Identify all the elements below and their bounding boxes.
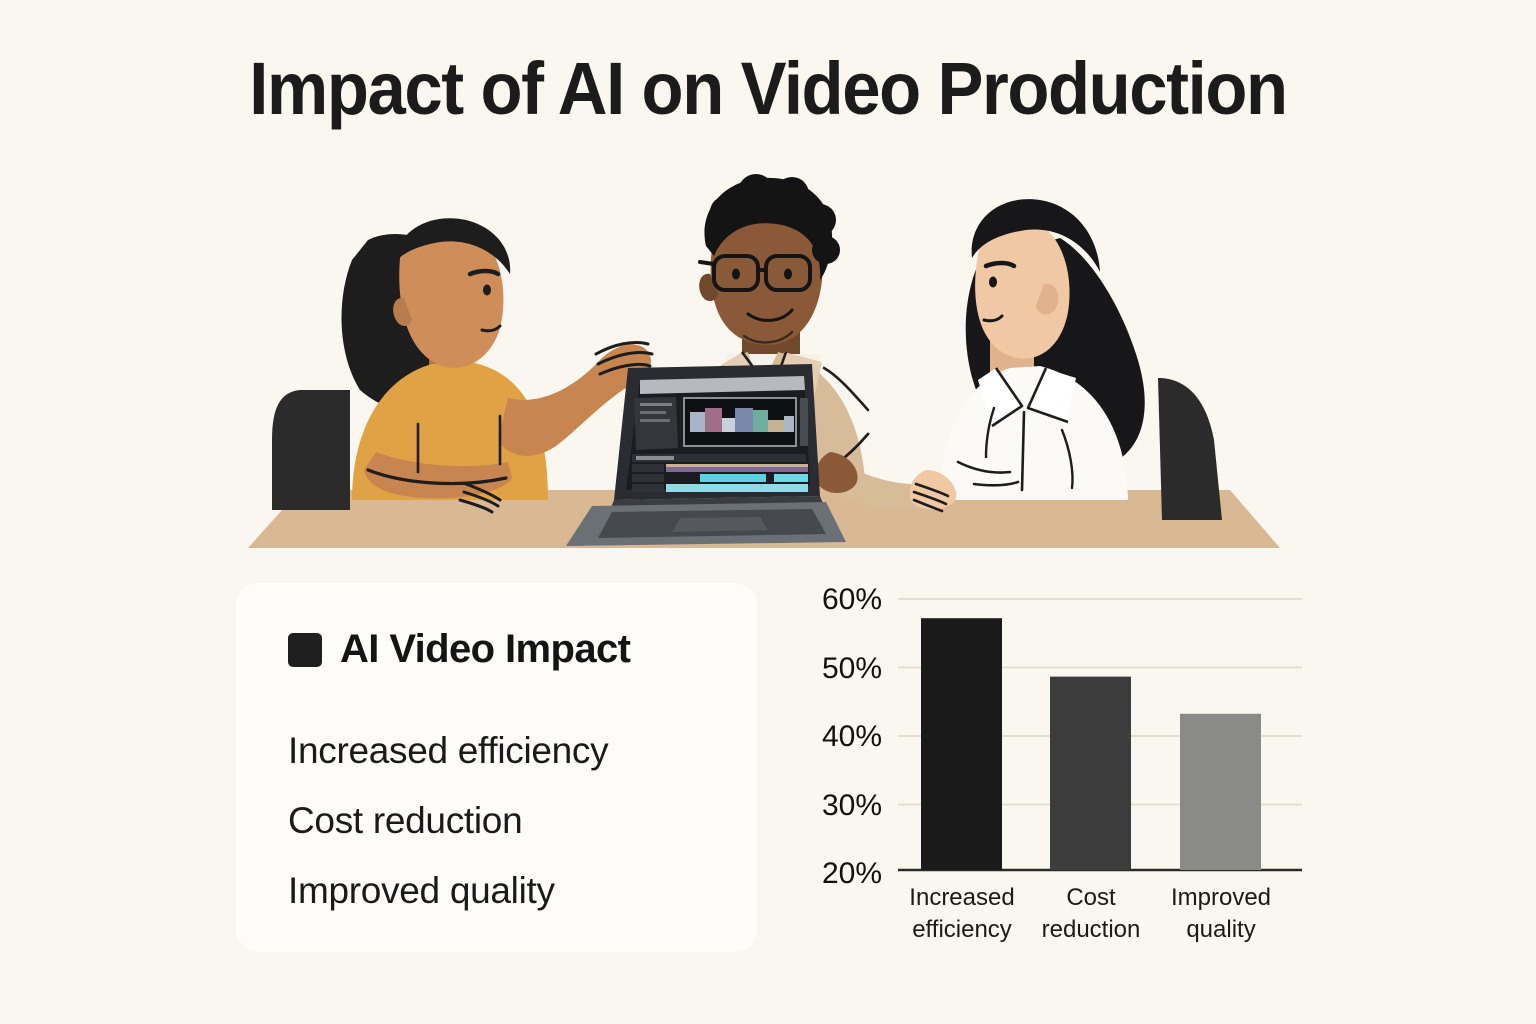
list-item: Increased efficiency xyxy=(288,716,705,786)
bar-improved-quality[interactable] xyxy=(1180,714,1261,870)
bar-increased-efficiency[interactable] xyxy=(921,618,1002,870)
y-tick-label: 50% xyxy=(822,652,882,685)
list-item: Improved quality xyxy=(288,856,705,926)
y-axis-labels: 60% 50% 40% 30% 20% xyxy=(822,583,882,890)
bar-cost-reduction[interactable] xyxy=(1050,677,1131,870)
person-left xyxy=(342,218,652,512)
x-tick-label-line1: Cost xyxy=(1066,884,1116,911)
bar-chart: 60% 50% 40% 30% 20% Increased efficiency… xyxy=(790,575,1320,975)
x-tick-label-line2: quality xyxy=(1186,916,1255,943)
y-tick-label: 40% xyxy=(822,720,882,753)
poster-root: Impact of AI on Video Production xyxy=(0,0,1536,1024)
x-tick-label-line1: Improved xyxy=(1171,884,1271,911)
x-tick-label-line2: efficiency xyxy=(912,916,1012,943)
illustration-scene xyxy=(0,140,1536,560)
x-axis-labels: Increased efficiency Cost reduction Impr… xyxy=(909,884,1271,943)
legend-header: AI Video Impact xyxy=(288,627,705,672)
list-item: Cost reduction xyxy=(288,786,705,856)
legend-title: AI Video Impact xyxy=(340,627,630,672)
chair-right xyxy=(1158,378,1222,520)
y-tick-label: 20% xyxy=(822,857,882,890)
filled-square-icon xyxy=(288,633,322,667)
legend-card: AI Video Impact Increased efficiency Cos… xyxy=(236,583,757,952)
person-right xyxy=(910,199,1145,511)
x-tick-label-line1: Increased xyxy=(909,884,1014,911)
legend-item-list: Increased efficiency Cost reduction Impr… xyxy=(288,716,705,926)
x-tick-label-line2: reduction xyxy=(1042,916,1141,943)
y-tick-label: 30% xyxy=(822,789,882,822)
chair-left xyxy=(272,390,350,510)
page-title: Impact of AI on Video Production xyxy=(54,46,1482,132)
chart-bars xyxy=(921,618,1261,870)
y-tick-label: 60% xyxy=(822,583,882,616)
